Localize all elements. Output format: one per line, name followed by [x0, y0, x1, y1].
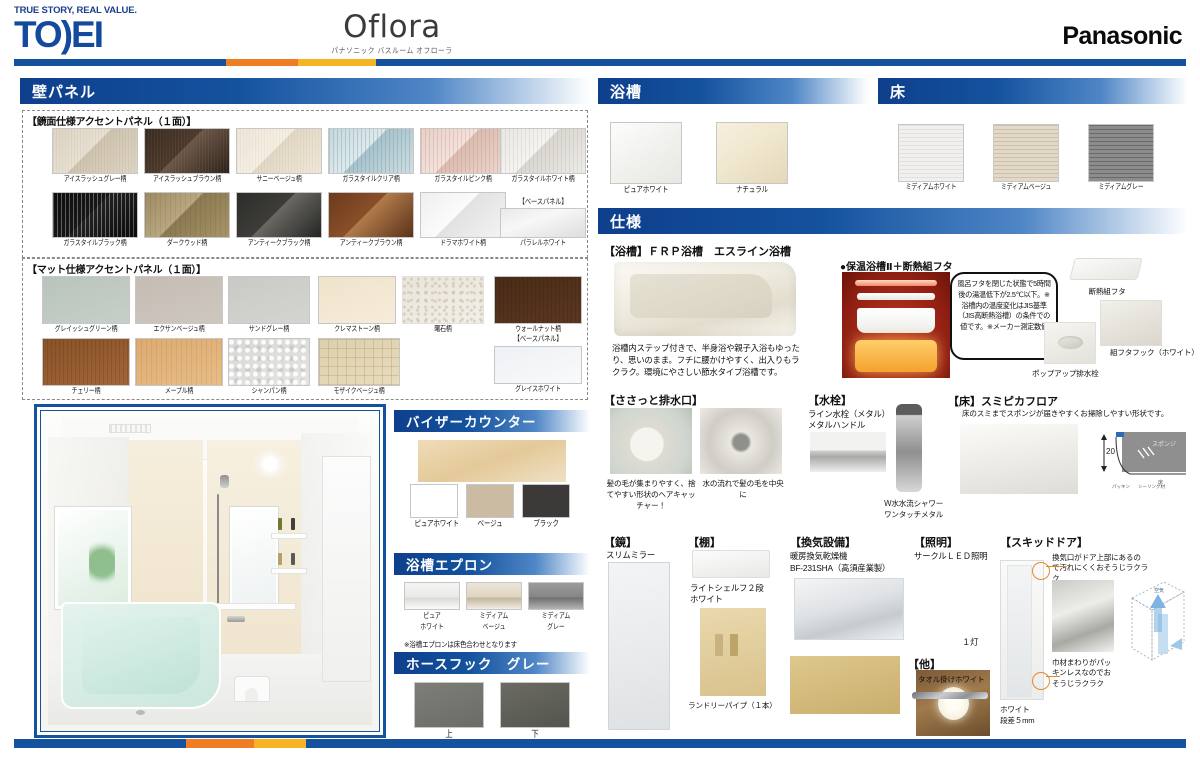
swatch-chip: [410, 484, 458, 518]
spec-floor-heading: 【床】: [948, 396, 981, 408]
bathroom-room-photo: [34, 404, 386, 738]
spec-lighting-heading: 【照明】: [914, 534, 958, 550]
swatch-label: 上: [420, 729, 477, 739]
swatch-label: ドラマホワイト柄: [428, 239, 499, 247]
swatch-antique-brown[interactable]: アンティークブラウン柄: [328, 192, 414, 247]
shower-head-photo: [896, 404, 922, 492]
swatch-ice-brown[interactable]: アイスラッシュブラウン柄: [144, 128, 230, 183]
swatch-chip: [466, 582, 522, 610]
window-foliage: [89, 534, 115, 592]
room-bottle-3: [278, 553, 282, 565]
swatch-exsan-beige[interactable]: エクサンベージュ柄: [135, 276, 223, 333]
insulation-tub: [857, 308, 935, 333]
spec-bathtub-description: 浴槽内ステップ付きで、半身浴や親子入浴もゆったり、思いのまま。フチに腰かけやすく…: [612, 342, 804, 379]
door-color-1: ホワイト: [1000, 704, 1030, 715]
swatch-chip: [328, 192, 414, 238]
insulation-illustration: [842, 272, 950, 378]
swatch-floor-medium-white[interactable]: ミディアムホワイト: [898, 124, 964, 191]
visor-counter-photo: [418, 440, 566, 482]
swatch-label: ダークウッド柄: [152, 239, 223, 247]
swatch-glass-tile-pink[interactable]: ガラスタイルピンク柄: [420, 128, 506, 183]
swatch-chip: [993, 124, 1059, 182]
swatch-hose-hook-lower[interactable]: 下: [500, 682, 570, 739]
door-callout-lead-bottom: [1046, 676, 1060, 677]
section-title-wall-panel: 壁パネル: [20, 78, 590, 104]
spec-shelf-sub3: ランドリーパイプ（１本）: [688, 700, 784, 711]
swatch-label-line2: ホワイト: [409, 622, 455, 632]
spec-insulation-heading: ●保温浴槽Ⅱ＋断熱組フタ: [840, 258, 953, 273]
shelf-photo: [692, 550, 770, 578]
swatch-cherry[interactable]: チェリー柄: [42, 338, 130, 395]
matte-panel-group-label: 【マット仕様アクセントパネル（１面）】: [23, 259, 587, 276]
toei-logo-block: TRUE STORY, REAL VALUE. TO)EI: [14, 5, 184, 52]
apron-note: ※浴槽エプロンは床色合わせとなります: [404, 640, 575, 650]
base-panel-tag-gloss: 【ベースパネル】: [506, 196, 579, 207]
bathtub-photo: [614, 262, 796, 336]
header-rule-blue-left: [14, 59, 226, 66]
spec-other-heading: 【他】: [908, 656, 941, 672]
spec-drain-heading: 【ささっと排水口】: [604, 392, 703, 408]
swatch-dark-wood[interactable]: ダークウッド柄: [144, 192, 230, 247]
swatch-label: エクサンベージュ柄: [143, 325, 215, 333]
swatch-chip: [494, 346, 582, 384]
section-title-spec: 仕様: [598, 208, 1188, 234]
swatch-label: ガラスタイルホワイト柄: [508, 175, 579, 183]
swatch-label: ナチュラル: [722, 185, 781, 194]
swatch-label: モザイクベージュ柄: [325, 387, 392, 395]
floor-corner-diagram: 20 スポンジ 床 パッキン シーリング材: [1086, 424, 1188, 494]
swatch-label: チェリー柄: [50, 387, 122, 395]
door-color-2: 段差５mm: [1000, 715, 1034, 726]
swatch-counter-beige[interactable]: ベージュ: [466, 484, 514, 528]
swatch-label: アンティークブラウン柄: [336, 239, 407, 247]
spec-mirror-sub: スリムミラー: [606, 549, 655, 561]
swatch-chip: [135, 338, 223, 386]
door-callout-lead-top: [1046, 566, 1066, 567]
swatch-label: ピュアホワイト: [616, 185, 675, 194]
swatch-chip: [500, 682, 570, 728]
header-rule-orange: [226, 59, 298, 66]
brand-block: Oflora パナソニック バスルーム オフローラ: [282, 12, 502, 56]
swatch-chip: [52, 192, 138, 238]
swatch-crema-stone[interactable]: クレマストーン柄: [318, 276, 396, 333]
swatch-label: アイスラッシュブラウン柄: [152, 175, 223, 183]
swatch-label: ガラスタイルブラック柄: [60, 239, 131, 247]
door-frame-detail-photo: [1052, 580, 1114, 652]
popup-drain-label: ポップアップ排水栓: [1032, 368, 1132, 379]
spec-floor-sub: スミピカフロア: [981, 396, 1058, 408]
swatch-floor-medium-gray[interactable]: ミディアムグレー: [1088, 124, 1154, 191]
shelf-bottle-2: [730, 634, 738, 656]
section-title-apron: 浴槽エプロン: [394, 553, 590, 575]
swatch-label: アイスラッシュグレー柄: [60, 175, 131, 183]
swatch-chip: [42, 276, 130, 324]
section-title-visor-counter: バイザーカウンター: [394, 410, 590, 432]
swatch-label: グレイッシュグリーン柄: [50, 325, 122, 333]
spec-bathtub-heading: 【浴槽】: [604, 246, 648, 258]
page-header: TRUE STORY, REAL VALUE. TO)EI Oflora パナソ…: [0, 0, 1200, 66]
swatch-label: クレマストーン柄: [325, 325, 389, 333]
swatch-counter-black[interactable]: ブラック: [522, 484, 570, 528]
swatch-chip: [228, 338, 310, 386]
room-window: [55, 507, 132, 609]
swatch-maple[interactable]: メープル柄: [135, 338, 223, 395]
toei-logo: TO)EI: [14, 17, 184, 52]
swatch-chip: [420, 192, 506, 238]
shower-label-1: Ｗ水水流シャワー: [884, 498, 964, 509]
swatch-parallel-white[interactable]: パラレルホワイト: [500, 208, 586, 247]
swatch-chip: [500, 128, 586, 174]
swatch-glass-tile-clear[interactable]: ガラスタイルクリア柄: [328, 128, 414, 183]
insulation-lid: [857, 293, 935, 300]
swatch-chip: [404, 582, 460, 610]
room-shelf-lower: [271, 568, 307, 574]
swatch-label: 下: [506, 729, 563, 739]
swatch-label: ブラック: [526, 519, 565, 528]
spec-shelf-heading: 【棚】: [688, 534, 721, 550]
shelf-bottle-1: [715, 634, 723, 656]
spec-faucet-sub2: メタルハンドル: [808, 419, 865, 431]
room-photo-inner: [40, 410, 380, 732]
spec-lighting-sub: サークルＬＥＤ照明: [914, 550, 987, 562]
swatch-sunny-beige[interactable]: サニーベージュ柄: [236, 128, 322, 183]
swatch-label: シャンパン柄: [235, 387, 302, 395]
swatch-label: サニーベージュ柄: [244, 175, 315, 183]
swatch-label-line2: グレー: [533, 622, 579, 632]
room-faucet: [227, 616, 245, 622]
spec-ventilation-sub1: 暖房換気乾燥機: [790, 550, 847, 562]
swatch-chip: [328, 128, 414, 174]
drain-photo-2: [700, 408, 782, 474]
swatch-grace-white[interactable]: グレイスホワイト: [494, 346, 582, 393]
swatch-label: ピュアホワイト: [414, 519, 453, 528]
room-bottle-1: [278, 518, 282, 530]
swatch-chip: [528, 582, 584, 610]
spec-bathtub-heading-row: 【浴槽】ＦＲＰ浴槽 エスライン浴槽: [604, 242, 791, 260]
insulation-heat-bar-1: [855, 280, 937, 286]
swatch-chip: [610, 122, 682, 184]
swatch-label: 曙石柄: [409, 325, 476, 333]
base-panel-tag-matte: 【ベースパネル】: [501, 333, 576, 344]
swatch-grayish-green[interactable]: グレイッシュグリーン柄: [42, 276, 130, 333]
swatch-chip: [236, 128, 322, 174]
swatch-apron-medium-beige[interactable]: ミディアム ベージュ: [466, 582, 522, 632]
airflow-label: 空気: [1154, 587, 1164, 594]
header-rule-blue-right: [376, 59, 1186, 66]
swatch-label: メープル柄: [143, 387, 215, 395]
swatch-chip: [466, 484, 514, 518]
swatch-antique-black[interactable]: アンティークブラック柄: [236, 192, 322, 247]
section-title-floor: 床: [878, 78, 1188, 104]
spec-faucet-heading: 【水栓】: [808, 392, 852, 408]
swatch-chip: [318, 338, 400, 386]
swatch-chip: [414, 682, 484, 728]
swatch-tub-natural[interactable]: ナチュラル: [716, 122, 788, 194]
drain-caption-1: 髪の毛が集まりやすく、捨てやすい形状のヘアキャッチャー！: [604, 478, 698, 511]
room-floor-drain: [136, 710, 145, 715]
insulated-lid-label: 断熱組フタ: [1064, 286, 1150, 297]
brand-name: Oflora: [282, 12, 502, 43]
floor-diagram-sponge: スポンジ: [1152, 440, 1176, 448]
swatch-glass-tile-black[interactable]: ガラスタイルブラック柄: [52, 192, 138, 247]
door-callout-circle-top: [1032, 562, 1050, 580]
insulated-lid-photo: [1069, 258, 1142, 280]
mirror-photo: [608, 562, 670, 730]
swatch-label: ミディアムベージュ: [999, 183, 1053, 191]
swatch-akebono-stone[interactable]: 曙石柄: [402, 276, 484, 333]
lid-hook-label: 組フタフック（ホワイト）: [1110, 348, 1196, 358]
insulation-warm-glow: [855, 340, 937, 372]
footer-rule-blue-right: [306, 739, 1186, 748]
door-note-bottom: 巾材まわりがパッキンレスなのでおそうじラクラク: [1052, 658, 1118, 689]
swatch-chip: [42, 338, 130, 386]
ventilation-fan-photo: [794, 578, 904, 640]
swatch-apron-pure-white[interactable]: ピュア ホワイト: [404, 582, 460, 632]
room-counter: [217, 603, 297, 610]
swatch-label: サンドグレー柄: [235, 325, 302, 333]
swatch-label: ミディアムグレー: [1094, 183, 1148, 191]
swatch-label: パラレルホワイト: [508, 239, 579, 247]
swatch-label: ベージュ: [470, 519, 509, 528]
spec-shelf-sub2: ホワイト: [690, 593, 723, 605]
drain-photo-1: [610, 408, 692, 474]
swatch-glass-tile-white[interactable]: ガラスタイルホワイト柄: [500, 128, 586, 183]
swatch-label: ガラスタイルクリア柄: [336, 175, 407, 183]
insulation-callout: 風呂フタを閉じた状態で5時間後の湯温低下が2.5℃以下。※浴槽内の温度変化はJI…: [950, 272, 1058, 360]
swatch-chip: [716, 122, 788, 184]
swatch-chip: [144, 128, 230, 174]
drain-caption-2: 水の流れで髪の毛を中央に: [700, 478, 786, 500]
swatch-champagne[interactable]: シャンパン柄: [228, 338, 310, 395]
room-bottle-4: [291, 553, 295, 565]
faucet-photo: [810, 432, 886, 472]
swatch-chip: [500, 208, 586, 238]
swatch-tub-pure-white[interactable]: ピュアホワイト: [610, 122, 682, 194]
spec-ventilation-sub2: BF-231SHA（高須産業製）: [790, 562, 890, 574]
room-shower-hose: [217, 494, 219, 616]
swatch-apron-medium-gray[interactable]: ミディアム グレー: [528, 582, 584, 632]
swatch-mosaic-beige[interactable]: モザイクベージュ柄: [318, 338, 400, 395]
swatch-chip: [402, 276, 484, 324]
swatch-counter-pure-white[interactable]: ピュアホワイト: [410, 484, 458, 528]
floor-cleaning-photo: [960, 424, 1078, 494]
room-bathtub: [61, 602, 220, 708]
swatch-ice-gray[interactable]: アイスラッシュグレー柄: [52, 128, 138, 183]
floor-diagram-dim: 20: [1106, 447, 1115, 456]
swatch-label-line1: ミディアム: [471, 611, 517, 621]
floor-diagram-packing: パッキン: [1112, 484, 1130, 489]
airflow-svg: 空気: [1124, 572, 1190, 676]
swatch-walnut[interactable]: ウォールナット柄: [494, 276, 582, 333]
swatch-chip: [420, 128, 506, 174]
laundry-pipe-photo: [790, 656, 900, 714]
footer-rule-blue-left: [14, 739, 186, 748]
panasonic-logo: Panasonic: [1062, 22, 1182, 51]
floor-diagram-sealing: シーリング材: [1138, 483, 1165, 490]
swatch-drama-white[interactable]: ドラマホワイト柄: [420, 192, 506, 247]
swatch-label-line2: ベージュ: [471, 622, 517, 632]
floor-diagram-svg: 20 スポンジ 床 パッキン シーリング材: [1086, 424, 1188, 494]
room-ceiling-vent: [109, 424, 151, 433]
door-callout-circle-bottom: [1032, 672, 1050, 690]
gloss-panel-group-label: 【鏡面仕様アクセントパネル（１面）】: [23, 111, 587, 128]
room-mirror: [230, 507, 278, 607]
room-stool: [234, 676, 270, 702]
section-title-bathtub: 浴槽: [598, 78, 868, 104]
swatch-label: ガラスタイルピンク柄: [428, 175, 499, 183]
swatch-chip: [236, 192, 322, 238]
shower-label-2: ワンタッチメタル: [884, 509, 964, 520]
swatch-sand-gray[interactable]: サンドグレー柄: [228, 276, 310, 333]
swatch-chip: [135, 276, 223, 324]
room-bathtub-water: [82, 617, 200, 695]
room-bottle-2: [291, 518, 295, 530]
lid-hook-photo: [1100, 300, 1162, 346]
room-ceiling-light: [257, 453, 283, 475]
swatch-label-line1: ミディアム: [533, 611, 579, 621]
swatch-label-line1: ピュア: [409, 611, 455, 621]
room-door: [322, 456, 371, 682]
room-shower-head: [220, 475, 229, 488]
spec-floor-description: 床のスミまでスポンジが届きやすくお掃除しやすい形状です。: [962, 408, 1188, 419]
section-title-hose-hook: ホースフック グレー: [394, 652, 590, 674]
spec-sheet-page: TRUE STORY, REAL VALUE. TO)EI Oflora パナソ…: [0, 0, 1200, 757]
spec-bathtub-sub: ＦＲＰ浴槽 エスライン浴槽: [648, 246, 791, 258]
swatch-chip: [494, 276, 582, 324]
swatch-label: グレイスホワイト: [502, 385, 574, 393]
header-rule-yellow: [298, 59, 376, 66]
footer-rule-yellow: [254, 739, 306, 748]
spec-door-heading: 【スキッドドア】: [1000, 534, 1088, 550]
airflow-cube-diagram: 空気: [1124, 572, 1190, 676]
swatch-chip: [1088, 124, 1154, 182]
spec-mirror-heading: 【鏡】: [604, 534, 637, 550]
room-render: [41, 411, 379, 731]
brand-subtitle: パナソニック バスルーム オフローラ: [293, 45, 491, 56]
shelf-in-use-photo: [700, 608, 766, 696]
swatch-chip: [318, 276, 396, 324]
spec-ventilation-heading: 【換気設備】: [790, 534, 856, 550]
popup-drain-photo: [1044, 322, 1096, 364]
room-shelf-upper: [271, 533, 307, 539]
spec-lighting-count: １灯: [962, 636, 978, 648]
swatch-chip: [52, 128, 138, 174]
footer-rule-orange: [186, 739, 254, 748]
spec-other-sub: タオル掛けホワイト: [918, 674, 985, 685]
swatch-label: ミディアムホワイト: [904, 183, 958, 191]
swatch-hose-hook-upper[interactable]: 上: [414, 682, 484, 739]
swatch-chip: [228, 276, 310, 324]
swatch-chip: [522, 484, 570, 518]
towel-rail-photo: [912, 692, 988, 699]
swatch-floor-medium-beige[interactable]: ミディアムベージュ: [993, 124, 1059, 191]
swatch-chip: [898, 124, 964, 182]
swatch-chip: [144, 192, 230, 238]
swatch-label: アンティークブラック柄: [244, 239, 315, 247]
